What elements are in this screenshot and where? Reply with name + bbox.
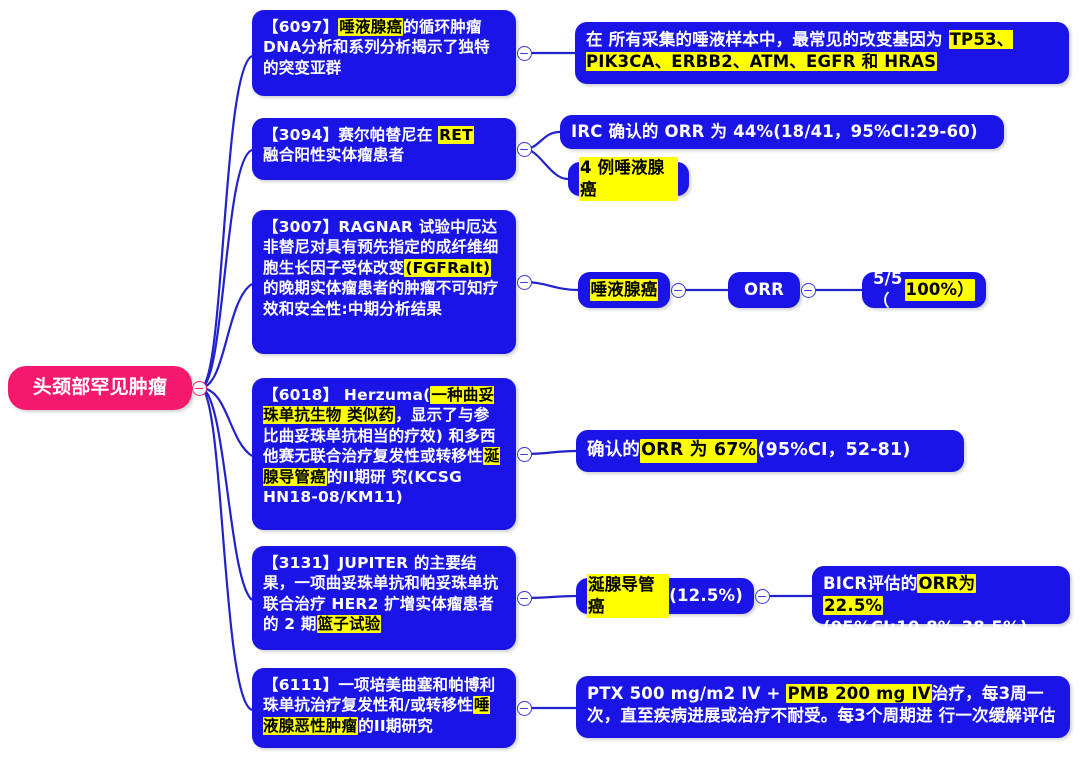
detail-node-3007-orr-label[interactable]: ORR [728, 272, 800, 308]
collapse-toggle-6111[interactable] [517, 701, 532, 716]
highlight-text: 100%） [905, 279, 975, 301]
collapse-toggle-3007[interactable] [517, 275, 532, 290]
node-text-segment: (12.5%) [669, 585, 743, 607]
node-text-segment: (95%CI:10.8%-38.5%) [823, 618, 1028, 637]
node-text-segment: 融合阳性实体瘤患者 [263, 146, 404, 164]
branch-node-3007[interactable]: 【3007】RAGNAR 试验中厄达非替尼对具有预先指定的成纤维细胞生长因子受体… [252, 210, 516, 354]
root-node-label: 头颈部罕见肿瘤 [33, 375, 167, 400]
detail-node-6018-orr[interactable]: 确认的 ORR 为 67%(95%CI，52-81) [576, 430, 964, 472]
node-text-segment: IRC 确认的 ORR 为 44%(18/41，95%CI:29-60) [571, 121, 978, 143]
collapse-toggle-3094[interactable] [517, 142, 532, 157]
highlight-text: ORR为 [917, 574, 976, 593]
node-text-segment: 【6111】一项培美曲塞和帕博利珠单抗治疗复发性和/或转移性 [263, 676, 495, 714]
branch-node-6018[interactable]: 【6018】 Herzuma(一种曲妥珠单抗生物 类似药，显示了与参比曲妥珠单抗… [252, 378, 516, 530]
node-text-segment: 确认的 [587, 439, 640, 462]
node-text-segment: 【6018】 Herzuma( [263, 386, 430, 404]
collapse-toggle-3007-child[interactable] [671, 283, 686, 298]
collapse-toggle-6097[interactable] [517, 46, 532, 61]
detail-node-6111-regimen[interactable]: PTX 500 mg/m2 IV + PMB 200 mg IV治疗，每3周一次… [576, 676, 1070, 738]
node-text-segment: (95%CI，52-81) [757, 439, 910, 462]
collapse-toggle-3131-child[interactable] [755, 589, 770, 604]
detail-node-3007-orr-value[interactable]: 5/5（100%） [862, 272, 986, 308]
branch-node-3094[interactable]: 【3094】赛尔帕替尼在 RET融合阳性实体瘤患者 [252, 118, 516, 180]
collapse-toggle-3007-orr[interactable] [801, 283, 816, 298]
detail-node-3094-cases[interactable]: 4 例唾液腺癌 [568, 162, 689, 196]
node-text-segment: 在 所有采集的唾液样本中，最常见的改变基因为 [586, 30, 949, 49]
node-text-segment: 5/5（ [873, 268, 905, 312]
highlight-text: 涎腺导管癌 [587, 574, 669, 618]
collapse-toggle-root[interactable] [192, 381, 207, 396]
highlight-text: 篮子试验 [317, 615, 382, 633]
detail-node-3131-bicr-orr[interactable]: BICR评估的ORR为22.5%(95%CI:10.8%-38.5%) [812, 566, 1070, 624]
node-text-segment: 的II期研究 [358, 717, 433, 735]
node-text-segment: ORR [744, 279, 784, 301]
branch-node-3131[interactable]: 【3131】JUPITER 的主要结果，一项曲妥珠单抗和帕妥珠单抗联合治疗 HE… [252, 546, 516, 650]
root-node[interactable]: 头颈部罕见肿瘤 [8, 366, 192, 410]
detail-node-6097-genes[interactable]: 在 所有采集的唾液样本中，最常见的改变基因为 TP53、PIK3CA、ERBB2… [575, 22, 1069, 84]
branch-node-6111[interactable]: 【6111】一项培美曲塞和帕博利珠单抗治疗复发性和/或转移性唾液腺恶性肿瘤的II… [252, 668, 516, 748]
node-text-segment: 【6097】 [263, 18, 338, 36]
collapse-toggle-3131[interactable] [517, 591, 532, 606]
highlight-text: 22.5% [823, 596, 883, 615]
node-text-segment: 的晚期实体瘤患者的肿瘤不可知疗效和安全性:中期分析结果 [263, 279, 499, 317]
mindmap-canvas: 头颈部罕见肿瘤 【6097】唾液腺癌的循环肿瘤DNA分析和系列分析揭示了独特的突… [0, 0, 1080, 764]
highlight-text: (FGFRalt) [404, 259, 491, 277]
highlight-text: 4 例唾液腺癌 [579, 157, 678, 201]
node-text-segment: 【3094】赛尔帕替尼在 [263, 126, 438, 144]
detail-node-3094-irc-orr[interactable]: IRC 确认的 ORR 为 44%(18/41，95%CI:29-60) [560, 115, 1004, 149]
highlight-text: 唾液腺癌 [338, 18, 403, 36]
highlight-text: RET [438, 126, 474, 144]
highlight-text: PMB 200 mg IV [786, 684, 931, 703]
node-text-segment: BICR评估的 [823, 574, 917, 593]
detail-node-3007-tumor-type[interactable]: 唾液腺癌 [578, 272, 670, 308]
node-text-segment: PTX 500 mg/m2 IV + [587, 684, 786, 703]
highlight-text: ORR 为 67% [640, 439, 757, 462]
collapse-toggle-6018[interactable] [517, 447, 532, 462]
highlight-text: 唾液腺癌 [590, 279, 659, 301]
branch-node-6097[interactable]: 【6097】唾液腺癌的循环肿瘤DNA分析和系列分析揭示了独特的突变亚群 [252, 10, 516, 96]
detail-node-3131-tumor-type[interactable]: 涎腺导管癌(12.5%) [576, 578, 754, 614]
